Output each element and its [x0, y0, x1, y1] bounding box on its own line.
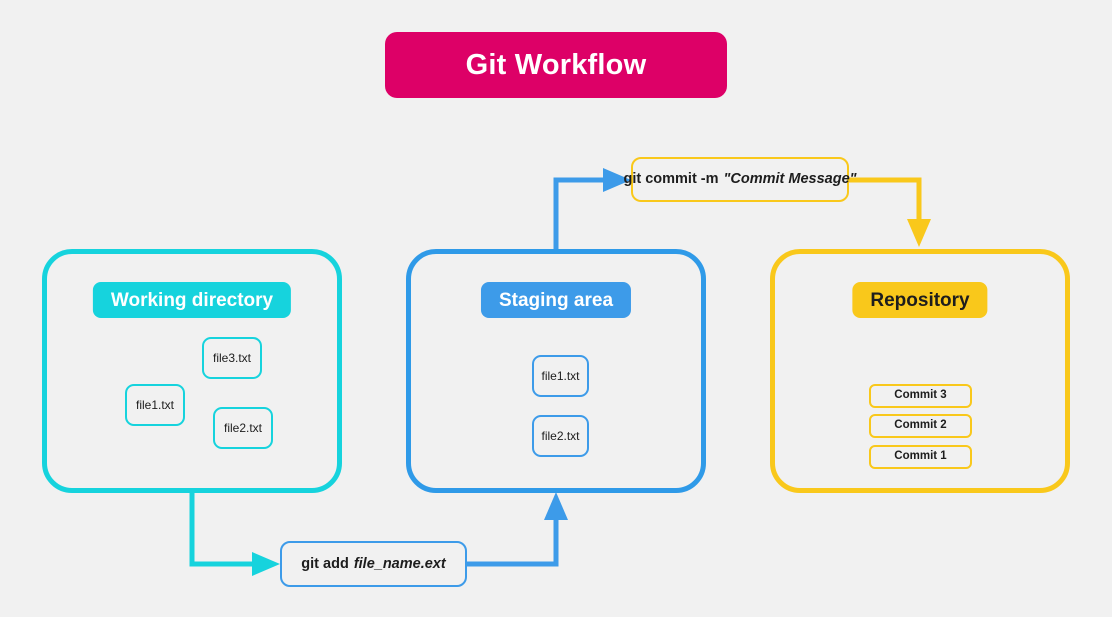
panel-staging-area: Staging area file1.txt file2.txt	[406, 249, 706, 493]
command-box-git-commit[interactable]: git commit -m "Commit Message"	[631, 157, 849, 202]
file-chip-label: file2.txt	[541, 430, 579, 442]
panel-label-staging-area: Staging area	[481, 282, 631, 318]
command-git-add-argument: file_name.ext	[354, 557, 446, 572]
panel-label-text-staging-area: Staging area	[499, 291, 613, 310]
commit-chip-label: Commit 3	[894, 390, 946, 402]
diagram-canvas: Git Workflow Working directory file3.txt…	[0, 0, 1112, 617]
commit-chip[interactable]: Commit 2	[869, 414, 972, 438]
diagram-title-banner: Git Workflow	[385, 32, 727, 98]
file-chip[interactable]: file3.txt	[202, 337, 262, 379]
file-chip[interactable]: file1.txt	[532, 355, 589, 397]
commit-chip[interactable]: Commit 3	[869, 384, 972, 408]
panel-label-text-working-directory: Working directory	[111, 291, 273, 310]
file-chip-label: file2.txt	[224, 422, 262, 434]
file-chip-label: file1.txt	[136, 399, 174, 411]
panel-repository: Repository Commit 3 Commit 2 Commit 1	[770, 249, 1070, 493]
arrow-staging-area-to-git-commit	[556, 168, 631, 251]
arrow-working-directory-to-git-add	[192, 491, 280, 576]
file-chip[interactable]: file2.txt	[532, 415, 589, 457]
file-chip[interactable]: file1.txt	[125, 384, 185, 426]
arrow-git-commit-to-repository	[849, 180, 931, 247]
panel-working-directory: Working directory file3.txt file1.txt fi…	[42, 249, 342, 493]
panel-label-text-repository: Repository	[870, 291, 969, 310]
commit-chip-label: Commit 2	[894, 420, 946, 432]
commit-chip-label: Commit 1	[894, 451, 946, 463]
command-git-commit-text: git commit -m	[623, 172, 718, 187]
arrow-git-add-to-staging-area	[467, 492, 568, 564]
command-git-commit-argument: "Commit Message"	[724, 172, 857, 187]
panel-label-repository: Repository	[852, 282, 987, 318]
commit-chip[interactable]: Commit 1	[869, 445, 972, 469]
panel-label-working-directory: Working directory	[93, 282, 291, 318]
command-git-add-text: git add	[301, 557, 349, 572]
file-chip-label: file1.txt	[541, 370, 579, 382]
command-box-git-add[interactable]: git add file_name.ext	[280, 541, 467, 587]
file-chip-label: file3.txt	[213, 352, 251, 364]
diagram-title: Git Workflow	[466, 51, 647, 80]
file-chip[interactable]: file2.txt	[213, 407, 273, 449]
